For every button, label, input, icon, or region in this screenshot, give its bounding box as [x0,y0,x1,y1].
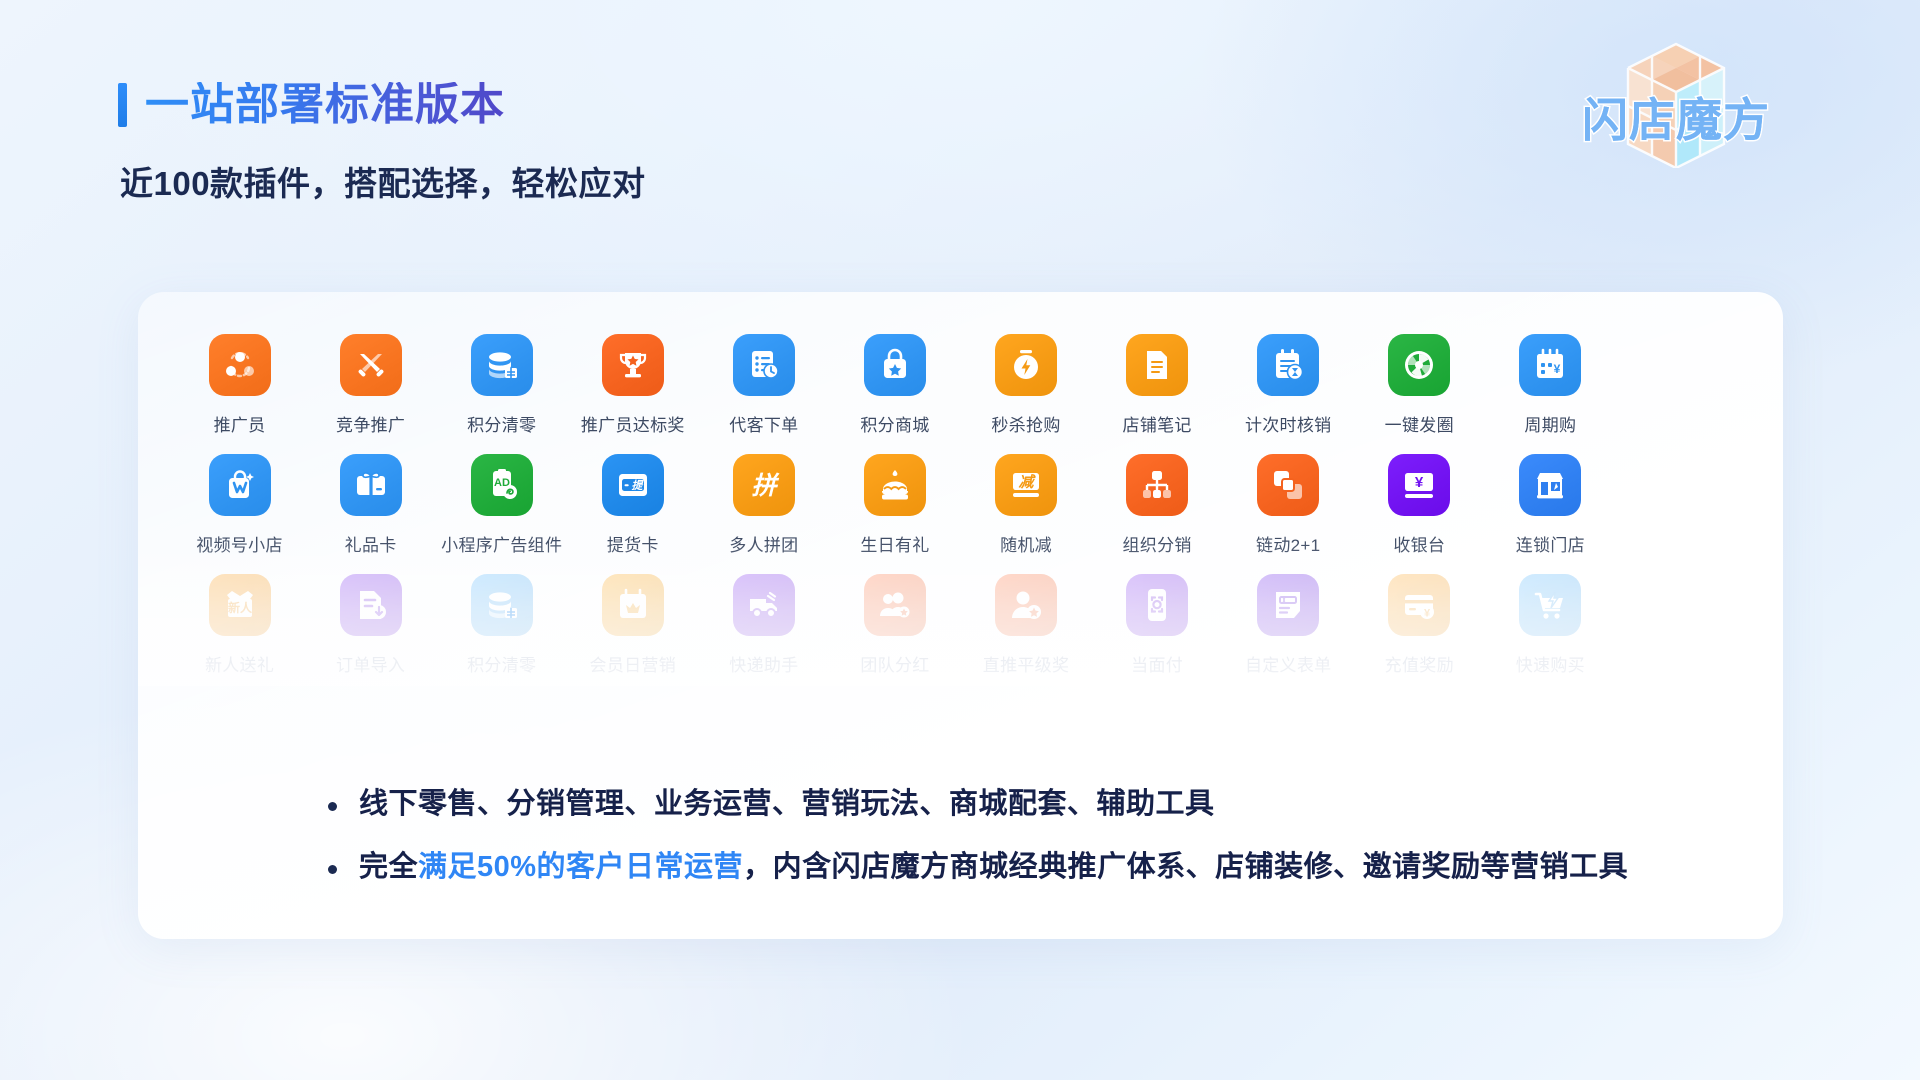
plugin-item-label: 收银台 [1393,531,1445,556]
plugin-item-label: 当面付 [1131,651,1183,676]
plugin-item[interactable]: 拼多人拼团 [698,444,829,560]
custom-form-icon[interactable] [1257,574,1319,636]
plugin-item-label: 积分清零 [467,651,536,676]
plugin-item[interactable]: 计次时核销 [1223,324,1354,440]
plugin-item[interactable]: ¥ 收银台 [1354,444,1485,560]
bullet-dot [328,802,337,811]
svg-text:¥: ¥ [1554,362,1561,376]
cashier-monitor-icon[interactable]: ¥ [1388,454,1450,516]
plugin-item-label: 店铺笔记 [1123,411,1192,436]
plugin-item[interactable]: 会员日营销 [567,564,698,680]
document-note-icon[interactable] [1126,334,1188,396]
plugin-item-label: 小程序广告组件 [441,531,562,556]
plugin-item-label: 快递助手 [729,651,798,676]
plugin-item-label: 链动2+1 [1256,531,1320,556]
plugin-item-label: 积分商城 [860,411,929,436]
page-subtitle: 近100款插件，搭配选择，轻松应对 [120,157,646,205]
plugin-item-label: 代客下单 [729,411,798,436]
bullet-highlight: 满足50%的客户日常运营 [418,851,743,883]
shopping-bag-star-icon[interactable] [864,334,926,396]
plugin-row: 视频号小店 礼品卡 AD 小程序广告组件 提提货卡拼多人拼团 生日有礼 减 随机… [174,444,1747,560]
plugin-item-label: 礼品卡 [345,531,397,556]
plugin-item[interactable]: 自定义表单 [1223,564,1354,680]
crossed-swords-icon[interactable] [340,334,402,396]
delivery-truck-icon[interactable] [733,574,795,636]
referral-user-star-icon[interactable] [995,574,1057,636]
plugin-item-label: 计次时核销 [1245,411,1332,436]
plugin-item[interactable]: 店铺笔记 [1092,324,1223,440]
plugin-item[interactable]: 秒杀抢购 [960,324,1091,440]
plugin-item[interactable]: 减 随机减 [960,444,1091,560]
svg-text:拼: 拼 [751,472,779,500]
plugin-item[interactable]: 组织分销 [1092,444,1223,560]
new-user-gift-icon[interactable]: 新人 [209,574,271,636]
plugin-item-label: 推广员 [214,411,266,436]
plugin-item[interactable]: 直推平级奖 [960,564,1091,680]
plugin-item[interactable]: 新人新人送礼 [174,564,305,680]
plugin-item-label: 新人送礼 [205,651,274,676]
plugin-item[interactable]: 积分清零 [436,564,567,680]
group-buy-pin-icon[interactable]: 拼 [733,454,795,516]
database-reset-icon[interactable] [471,574,533,636]
random-discount-icon[interactable]: 减 [995,454,1057,516]
plugin-item[interactable]: 当面付 [1092,564,1223,680]
plugin-item[interactable]: AD 小程序广告组件 [436,444,567,560]
plugin-item[interactable]: 订单导入 [305,564,436,680]
bullet-item: 线下零售、分销管理、业务运营、营销玩法、商城配套、辅助工具 [328,786,1628,824]
bullet-text: 线下零售、分销管理、业务运营、营销玩法、商城配套、辅助工具 [359,786,1215,824]
svg-text:新人: 新人 [228,600,253,615]
plugin-item-label: 会员日营销 [590,651,677,676]
plugin-item-label: 积分清零 [467,411,536,436]
plugin-item-label: 快速购买 [1516,651,1585,676]
phone-scan-pay-icon[interactable] [1126,574,1188,636]
plugin-item-label: 自定义表单 [1245,651,1332,676]
plugin-item[interactable]: 代客下单 [698,324,829,440]
plugin-item[interactable]: 礼品卡 [305,444,436,560]
pickup-card-icon[interactable]: 提 [602,454,664,516]
bullet-text: 完全满足50%的客户日常运营，内含闪店魔方商城经典推广体系、店铺装修、邀请奖励等… [359,849,1628,887]
bullet-segment: 完全 [359,851,418,883]
plugin-item[interactable]: 提提货卡 [567,444,698,560]
plugin-item[interactable]: 连锁门店 [1485,444,1616,560]
order-list-clock-icon[interactable] [733,334,795,396]
plugin-row: 新人新人送礼 订单导入 积分清零 会员日营销 快递助手 团队分红 直推平级奖 [174,564,1747,680]
plugin-item[interactable]: 推广员达标奖 [567,324,698,440]
plugin-item-label: 竞争推广 [336,411,405,436]
video-shop-bag-icon[interactable] [209,454,271,516]
plugin-item[interactable]: 视频号小店 [174,444,305,560]
plugin-item-label: 直推平级奖 [983,651,1070,676]
plugin-item[interactable]: 推广员 [174,324,305,440]
plugin-item-label: 订单导入 [336,651,405,676]
plugin-item-label: 随机减 [1000,531,1052,556]
plugin-item-label: 推广员达标奖 [581,411,685,436]
fast-cart-bolt-icon[interactable] [1519,574,1581,636]
title-accent-bar [118,83,127,127]
title-row: 一站部署标准版本 [118,82,646,129]
plugin-item[interactable]: 团队分红 [829,564,960,680]
member-day-calendar-icon[interactable] [602,574,664,636]
calendar-yuan-icon[interactable]: ¥ [1519,334,1581,396]
logo-text: 闪店魔方 [1550,84,1802,150]
plugin-item-label: 周期购 [1524,411,1576,436]
birthday-cake-icon[interactable] [864,454,926,516]
bullet-segment: 线下零售、分销管理、业务运营、营销玩法、商城配套、辅助工具 [359,788,1215,820]
plugin-item[interactable]: 积分商城 [829,324,960,440]
svg-text:¥: ¥ [1424,608,1431,620]
plugin-item-label: 提货卡 [607,531,659,556]
bullet-dot [328,865,337,874]
page-header: 一站部署标准版本 近100款插件，搭配选择，轻松应对 [118,82,646,205]
plugin-item-label: 连锁门店 [1516,531,1585,556]
svg-text:¥: ¥ [1415,474,1424,491]
ad-badge-icon[interactable]: AD [471,454,533,516]
plugin-item-label: 组织分销 [1123,531,1192,556]
bullet-segment: ，内含闪店魔方商城经典推广体系、店铺装修、邀请奖励等营销工具 [743,851,1628,883]
clipboard-hourglass-icon[interactable] [1257,334,1319,396]
stopwatch-bolt-icon[interactable] [995,334,1057,396]
page-title: 一站部署标准版本 [145,82,505,129]
plugin-item-label: 生日有礼 [860,531,929,556]
plugin-item[interactable]: 生日有礼 [829,444,960,560]
team-dividend-icon[interactable] [864,574,926,636]
plugin-item[interactable]: 快递助手 [698,564,829,680]
org-tree-icon[interactable] [1126,454,1188,516]
plugin-item-label: 充值奖励 [1385,651,1454,676]
plugin-item[interactable]: 快速购买 [1485,564,1616,680]
order-import-icon[interactable] [340,574,402,636]
plugin-item[interactable]: ¥周期购 [1485,324,1616,440]
plugin-row: 推广员 竞争推广 积分清零 推广员达标奖 代客下单 积分商城 秒杀抢购 店铺笔记 [174,324,1747,440]
plugin-item-label: 一键发圈 [1385,411,1454,436]
storefront-icon[interactable] [1519,454,1581,516]
plugin-item-label: 视频号小店 [196,531,283,556]
plugin-item[interactable]: 竞争推广 [305,324,436,440]
plugin-item[interactable]: 一键发圈 [1354,324,1485,440]
plugin-item-label: 秒杀抢购 [991,411,1060,436]
bullet-item: 完全满足50%的客户日常运营，内含闪店魔方商城经典推广体系、店铺装修、邀请奖励等… [328,849,1628,887]
trophy-star-icon[interactable] [602,334,664,396]
recharge-card-yuan-icon[interactable]: ¥ [1388,574,1450,636]
database-reset-icon[interactable] [471,334,533,396]
gift-card-icon[interactable] [340,454,402,516]
aperture-icon[interactable] [1388,334,1450,396]
plugin-card: 推广员 竞争推广 积分清零 推广员达标奖 代客下单 积分商城 秒杀抢购 店铺笔记 [138,292,1783,939]
plugin-item[interactable]: ¥充值奖励 [1354,564,1485,680]
bullet-list: 线下零售、分销管理、业务运营、营销玩法、商城配套、辅助工具完全满足50%的客户日… [328,786,1628,887]
plugin-item[interactable]: 积分清零 [436,324,567,440]
brand-logo: 闪店魔方 闪店魔方 [1550,38,1802,168]
plugin-item[interactable]: 链动2+1 [1223,444,1354,560]
plugin-item-label: 团队分红 [860,651,929,676]
plugin-item-label: 多人拼团 [729,531,798,556]
linked-blocks-icon[interactable] [1257,454,1319,516]
plugin-grid: 推广员 竞争推广 积分清零 推广员达标奖 代客下单 积分商城 秒杀抢购 店铺笔记 [138,292,1783,680]
share-nodes-icon[interactable] [209,334,271,396]
